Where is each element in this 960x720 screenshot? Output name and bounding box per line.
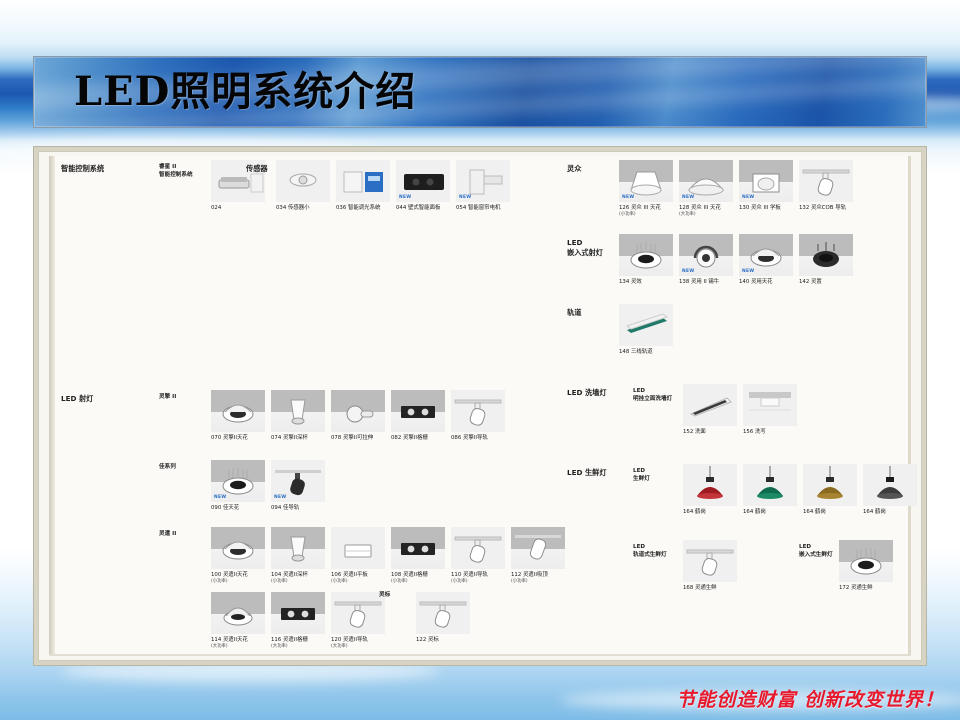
product-item[interactable]: 148 三线轨道 (619, 304, 673, 356)
product-item[interactable]: NEW126 灵众 III 天花(小功率) (619, 160, 673, 218)
catalog-left-column: 智能控制系统睿星 II 智能控制系统024传感器034 传感器小036 智能调光… (61, 156, 561, 654)
product-caption: 164 鹤岗 (683, 509, 706, 516)
product-caption: 054 智能窗帘电机 (456, 205, 500, 212)
product-thumbnail: NEW (679, 234, 733, 276)
product-caption: 034 传感器小 (276, 205, 310, 212)
product-caption: 106 灵遣II平板(小功率) (331, 572, 368, 585)
catalog-section-title: 灵众 (567, 164, 581, 174)
product-caption: 036 智能调光系统 (336, 205, 380, 212)
product-item[interactable]: 164 鹤岗 (863, 464, 917, 516)
product-thumbnail (619, 304, 673, 346)
catalog-group-title: 灵标 (379, 592, 390, 600)
product-row: 122 灵标 (416, 592, 470, 644)
product-caption-sub: (小功率) (391, 579, 428, 585)
product-item[interactable]: NEW130 灵众 III 学板 (739, 160, 793, 218)
product-item[interactable]: NEW044 壁式智能面板 (396, 160, 450, 212)
product-row: 114 灵遣II天花(大功率)116 灵遣II格栅(大功率)120 灵遣II导轨… (211, 592, 385, 650)
product-item[interactable]: 122 灵标 (416, 592, 470, 644)
product-thumbnail: NEW (211, 460, 265, 502)
product-caption: 100 灵遣II天花(小功率) (211, 572, 248, 585)
product-thumbnail: NEW (271, 460, 325, 502)
product-caption: 044 壁式智能面板 (396, 205, 440, 212)
product-caption: 086 灵擎II导轨 (451, 435, 488, 442)
product-thumbnail (863, 464, 917, 506)
product-thumbnail (391, 390, 445, 432)
product-caption: 168 灵通生鲜 (683, 585, 717, 592)
product-caption-sub: (小功率) (271, 579, 308, 585)
product-item[interactable]: 164 鹤岗 (743, 464, 797, 516)
product-caption: 126 灵众 III 天花(小功率) (619, 205, 661, 218)
product-item[interactable]: 142 灵置 (799, 234, 853, 286)
new-badge: NEW (399, 195, 411, 200)
product-thumbnail: NEW (739, 160, 793, 202)
page-spine (49, 156, 55, 654)
product-thumbnail (619, 234, 673, 276)
product-item[interactable]: 100 灵遣II天花(小功率) (211, 527, 265, 585)
catalog-section-title: 传感器 (246, 164, 268, 174)
product-caption: 070 灵擎II天花 (211, 435, 248, 442)
product-caption: 156 洗写 (743, 429, 766, 436)
product-item[interactable]: 152 洗面 (683, 384, 737, 436)
product-caption-sub: (小功率) (451, 579, 488, 585)
new-badge: NEW (459, 195, 471, 200)
product-caption: 090 佳天花 (211, 505, 239, 512)
product-caption-sub: (大功率) (271, 644, 308, 650)
new-badge: NEW (742, 269, 754, 274)
catalog-group-title: 佳系列 (159, 464, 176, 472)
product-item[interactable]: NEW138 灵用 II 锡牛 (679, 234, 733, 286)
product-thumbnail: NEW (739, 234, 793, 276)
product-thumbnail (271, 390, 325, 432)
product-caption: 094 佳导轨 (271, 505, 299, 512)
new-badge: NEW (682, 269, 694, 274)
catalog-section-title: 智能控制系统 (61, 164, 104, 174)
product-thumbnail (271, 592, 325, 634)
product-row: 100 灵遣II天花(小功率)104 灵遣II深杯(小功率)106 灵遣II平板… (211, 527, 565, 585)
product-item[interactable]: NEW128 灵众 III 天花(大功率) (679, 160, 733, 218)
product-caption: 078 灵擎II可拉伸 (331, 435, 373, 442)
product-thumbnail (391, 527, 445, 569)
product-caption: 172 灵通生鲜 (839, 585, 873, 592)
new-badge: NEW (742, 195, 754, 200)
new-badge: NEW (274, 495, 286, 500)
product-thumbnail (211, 390, 265, 432)
product-thumbnail (331, 527, 385, 569)
catalog-page: 智能控制系统睿星 II 智能控制系统024传感器034 传感器小036 智能调光… (49, 156, 911, 656)
product-caption: 122 灵标 (416, 637, 439, 644)
product-item[interactable]: 164 鹤岗 (803, 464, 857, 516)
catalog-group-title: 灵擎 II (159, 394, 176, 402)
product-item[interactable]: 082 灵擎II格栅 (391, 390, 445, 442)
product-row: NEW090 佳天花NEW094 佳导轨 (211, 460, 325, 512)
product-thumbnail (799, 160, 853, 202)
product-thumbnail (416, 592, 470, 634)
product-row: 172 灵通生鲜 (839, 540, 893, 592)
product-thumbnail (211, 592, 265, 634)
catalog-group-title: 睿星 II 智能控制系统 (159, 164, 193, 180)
product-caption: 142 灵置 (799, 279, 822, 286)
product-thumbnail (331, 390, 385, 432)
catalog-spread: 智能控制系统睿星 II 智能控制系统024传感器034 传感器小036 智能调光… (38, 151, 922, 661)
product-thumbnail (743, 464, 797, 506)
product-thumbnail (331, 592, 385, 634)
product-caption-sub: (大功率) (211, 644, 248, 650)
product-row: 148 三线轨道 (619, 304, 673, 356)
product-caption: 108 灵遣II格栅(小功率) (391, 572, 428, 585)
product-thumbnail (683, 384, 737, 426)
product-thumbnail: NEW (456, 160, 510, 202)
product-item[interactable]: 106 灵遣II平板(小功率) (331, 527, 385, 585)
product-caption-sub: (大功率) (679, 212, 721, 218)
title-banner: LED照明系统介绍 (33, 56, 927, 128)
product-item[interactable]: 116 灵遣II格栅(大功率) (271, 592, 325, 650)
product-caption: 132 灵众COB 导轨 (799, 205, 846, 212)
product-caption: 152 洗面 (683, 429, 706, 436)
product-row: NEW126 灵众 III 天花(小功率)NEW128 灵众 III 天花(大功… (619, 160, 853, 218)
product-caption-sub: (小功率) (619, 212, 661, 218)
catalog-group-title: LED 嵌入式生鲜灯 (799, 544, 833, 560)
product-item[interactable]: 086 灵擎II导轨 (451, 390, 505, 442)
product-thumbnail (276, 160, 330, 202)
catalog-group-title: 灵遣 II (159, 531, 176, 539)
product-thumbnail (336, 160, 390, 202)
product-thumbnail (511, 527, 565, 569)
product-thumbnail (683, 540, 737, 582)
product-caption: 074 灵擎II深杯 (271, 435, 308, 442)
product-item[interactable]: 156 洗写 (743, 384, 797, 436)
product-caption-sub: (小功率) (511, 579, 548, 585)
product-thumbnail (451, 527, 505, 569)
product-item[interactable]: NEW140 灵用天花 (739, 234, 793, 286)
product-caption: 138 灵用 II 锡牛 (679, 279, 719, 286)
product-caption: 114 灵遣II天花(大功率) (211, 637, 248, 650)
product-item[interactable]: 070 灵擎II天花 (211, 390, 265, 442)
catalog-group-title: LED 生鲜灯 (633, 468, 650, 484)
product-item[interactable]: 034 传感器小 (276, 160, 330, 212)
catalog-frame: 智能控制系统睿星 II 智能控制系统024传感器034 传感器小036 智能调光… (33, 146, 927, 666)
product-item[interactable]: 164 鹤岗 (683, 464, 737, 516)
product-thumbnail (839, 540, 893, 582)
product-item[interactable]: 104 灵遣II深杯(小功率) (271, 527, 325, 585)
product-item[interactable]: 074 灵擎II深杯 (271, 390, 325, 442)
catalog-section-title: 轨道 (567, 308, 581, 318)
product-thumbnail: NEW (679, 160, 733, 202)
catalog-section-title: LED 生鲜灯 (567, 468, 607, 478)
catalog-group-title: LED 明挂立面洗墙灯 (633, 388, 672, 404)
product-thumbnail (211, 527, 265, 569)
product-item[interactable]: NEW090 佳天花 (211, 460, 265, 512)
product-item[interactable]: 036 智能调光系统 (336, 160, 390, 212)
product-caption: 116 灵遣II格栅(大功率) (271, 637, 308, 650)
new-badge: NEW (622, 195, 634, 200)
catalog-group-title: LED 轨道式生鲜灯 (633, 544, 667, 560)
catalog-right-column: 灵众NEW126 灵众 III 天花(小功率)NEW128 灵众 III 天花(… (567, 156, 913, 654)
product-caption: 148 三线轨道 (619, 349, 653, 356)
product-caption-sub: (小功率) (331, 579, 368, 585)
product-thumbnail (799, 234, 853, 276)
product-row: 070 灵擎II天花074 灵擎II深杯078 灵擎II可拉伸082 灵擎II格… (211, 390, 505, 442)
product-caption: 110 灵遣II导轨(小功率) (451, 572, 488, 585)
product-item[interactable]: NEW094 佳导轨 (271, 460, 325, 512)
product-thumbnail (271, 527, 325, 569)
product-row: 168 灵通生鲜 (683, 540, 737, 592)
product-caption: 164 鹤岗 (803, 509, 826, 516)
page-title: LED照明系统介绍 (34, 57, 926, 127)
product-caption: 164 鹤岗 (863, 509, 886, 516)
product-item[interactable]: 120 灵遣II导轨(大功率) (331, 592, 385, 650)
product-caption: 082 灵擎II格栅 (391, 435, 428, 442)
product-item[interactable]: 110 灵遣II导轨(小功率) (451, 527, 505, 585)
product-row: 134 灵效NEW138 灵用 II 锡牛NEW140 灵用天花142 灵置 (619, 234, 853, 286)
product-caption: 112 灵遣II吸顶(小功率) (511, 572, 548, 585)
product-row: 164 鹤岗164 鹤岗164 鹤岗164 鹤岗 (683, 464, 917, 516)
product-item[interactable]: 172 灵通生鲜 (839, 540, 893, 592)
product-caption: 134 灵效 (619, 279, 642, 286)
product-thumbnail (451, 390, 505, 432)
product-thumbnail (683, 464, 737, 506)
product-item[interactable]: 132 灵众COB 导轨 (799, 160, 853, 218)
new-badge: NEW (682, 195, 694, 200)
product-caption-sub: (大功率) (331, 644, 368, 650)
product-item[interactable]: 114 灵遣II天花(大功率) (211, 592, 265, 650)
product-caption: 130 灵众 III 学板 (739, 205, 781, 212)
product-item[interactable]: NEW054 智能窗帘电机 (456, 160, 510, 212)
product-thumbnail (743, 384, 797, 426)
catalog-section-title: LED 洗墙灯 (567, 388, 607, 398)
product-item[interactable]: 134 灵效 (619, 234, 673, 286)
product-thumbnail (803, 464, 857, 506)
product-row: 152 洗面156 洗写 (683, 384, 797, 436)
product-caption: 024 (211, 205, 221, 212)
product-thumbnail: NEW (619, 160, 673, 202)
product-caption-sub: (小功率) (211, 579, 248, 585)
product-item[interactable]: 108 灵遣II格栅(小功率) (391, 527, 445, 585)
product-caption: 104 灵遣II深杯(小功率) (271, 572, 308, 585)
product-item[interactable]: 078 灵擎II可拉伸 (331, 390, 385, 442)
product-caption: 128 灵众 III 天花(大功率) (679, 205, 721, 218)
product-thumbnail: NEW (396, 160, 450, 202)
catalog-section-title: LED 嵌入式射灯 (567, 238, 603, 257)
product-item[interactable]: 168 灵通生鲜 (683, 540, 737, 592)
new-badge: NEW (214, 495, 226, 500)
footer-slogan: 节能创造财富 创新改变世界！ (676, 685, 944, 712)
product-caption: 120 灵遣II导轨(大功率) (331, 637, 368, 650)
product-item[interactable]: 112 灵遣II吸顶(小功率) (511, 527, 565, 585)
slide-background: LED照明系统介绍 智能控制系统睿星 II 智能控制系统024传感器034 传感… (0, 0, 960, 720)
product-caption: 164 鹤岗 (743, 509, 766, 516)
product-caption: 140 灵用天花 (739, 279, 773, 286)
catalog-section-title: LED 射灯 (61, 394, 93, 404)
product-row: 034 传感器小036 智能调光系统NEW044 壁式智能面板NEW054 智能… (276, 160, 510, 212)
